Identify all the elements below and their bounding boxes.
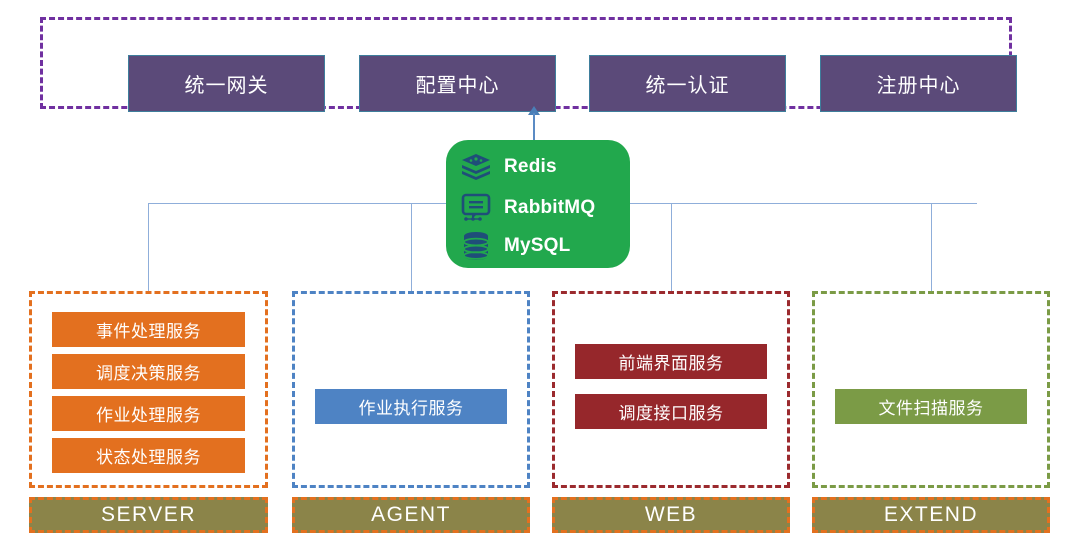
connector-drop-extend bbox=[931, 203, 932, 292]
connector-drop-web bbox=[671, 203, 672, 292]
layers-stack-icon bbox=[460, 151, 492, 183]
connector-bus-right bbox=[630, 203, 977, 204]
service-job-processing[interactable]: 作业处理服务 bbox=[52, 396, 245, 431]
module-agent: 作业执行服务 bbox=[292, 291, 530, 488]
platform-box-gateway-label: 统一网关 bbox=[185, 69, 269, 98]
module-server: 事件处理服务 调度决策服务 作业处理服务 状态处理服务 bbox=[29, 291, 268, 488]
service-schedule-decision[interactable]: 调度决策服务 bbox=[52, 354, 245, 389]
module-label-web-text: WEB bbox=[645, 503, 697, 527]
service-event-processing-label: 事件处理服务 bbox=[96, 317, 201, 342]
platform-box-auth-label: 统一认证 bbox=[646, 69, 730, 98]
module-label-server: SERVER bbox=[29, 497, 268, 533]
platform-layer-frame: 统一网关 配置中心 统一认证 注册中心 bbox=[40, 17, 1012, 109]
arrow-up-shaft bbox=[533, 113, 535, 140]
middleware-item-mysql[interactable]: MySQL bbox=[460, 228, 620, 264]
service-job-processing-label: 作业处理服务 bbox=[96, 401, 201, 426]
module-label-agent: AGENT bbox=[292, 497, 530, 533]
middleware-box[interactable]: Redis RabbitMQ bbox=[446, 140, 630, 268]
module-label-web: WEB bbox=[552, 497, 790, 533]
middleware-item-redis[interactable]: Redis bbox=[460, 149, 620, 185]
service-schedule-decision-label: 调度决策服务 bbox=[96, 359, 201, 384]
module-label-extend: EXTEND bbox=[812, 497, 1050, 533]
service-file-scan-label: 文件扫描服务 bbox=[879, 394, 984, 419]
module-label-extend-text: EXTEND bbox=[884, 503, 978, 527]
connector-drop-agent bbox=[411, 203, 412, 292]
middleware-item-mysql-label: MySQL bbox=[504, 235, 570, 257]
service-file-scan[interactable]: 文件扫描服务 bbox=[835, 389, 1027, 424]
service-schedule-api-label: 调度接口服务 bbox=[619, 399, 724, 424]
connector-bus-left bbox=[148, 203, 446, 204]
service-job-execution-label: 作业执行服务 bbox=[359, 394, 464, 419]
service-frontend-ui-label: 前端界面服务 bbox=[619, 349, 724, 374]
platform-box-registry[interactable]: 注册中心 bbox=[820, 55, 1017, 112]
platform-box-registry-label: 注册中心 bbox=[877, 69, 961, 98]
message-queue-icon bbox=[460, 192, 492, 224]
module-label-server-text: SERVER bbox=[101, 503, 196, 527]
module-extend: 文件扫描服务 bbox=[812, 291, 1050, 488]
middleware-item-redis-label: Redis bbox=[504, 156, 557, 178]
database-icon bbox=[460, 230, 492, 262]
connector-drop-server bbox=[148, 203, 149, 292]
service-state-processing[interactable]: 状态处理服务 bbox=[52, 438, 245, 473]
architecture-diagram: 统一网关 配置中心 统一认证 注册中心 Redis bbox=[0, 0, 1080, 545]
middleware-item-rabbitmq-label: RabbitMQ bbox=[504, 197, 595, 219]
service-state-processing-label: 状态处理服务 bbox=[96, 443, 201, 468]
platform-box-config-center-label: 配置中心 bbox=[416, 69, 500, 98]
service-frontend-ui[interactable]: 前端界面服务 bbox=[575, 344, 767, 379]
platform-box-gateway[interactable]: 统一网关 bbox=[128, 55, 325, 112]
middleware-item-rabbitmq[interactable]: RabbitMQ bbox=[460, 190, 620, 226]
service-job-execution[interactable]: 作业执行服务 bbox=[315, 389, 507, 424]
service-event-processing[interactable]: 事件处理服务 bbox=[52, 312, 245, 347]
module-web: 前端界面服务 调度接口服务 bbox=[552, 291, 790, 488]
service-schedule-api[interactable]: 调度接口服务 bbox=[575, 394, 767, 429]
platform-box-auth[interactable]: 统一认证 bbox=[589, 55, 786, 112]
platform-box-config-center[interactable]: 配置中心 bbox=[359, 55, 556, 112]
module-label-agent-text: AGENT bbox=[371, 503, 451, 527]
